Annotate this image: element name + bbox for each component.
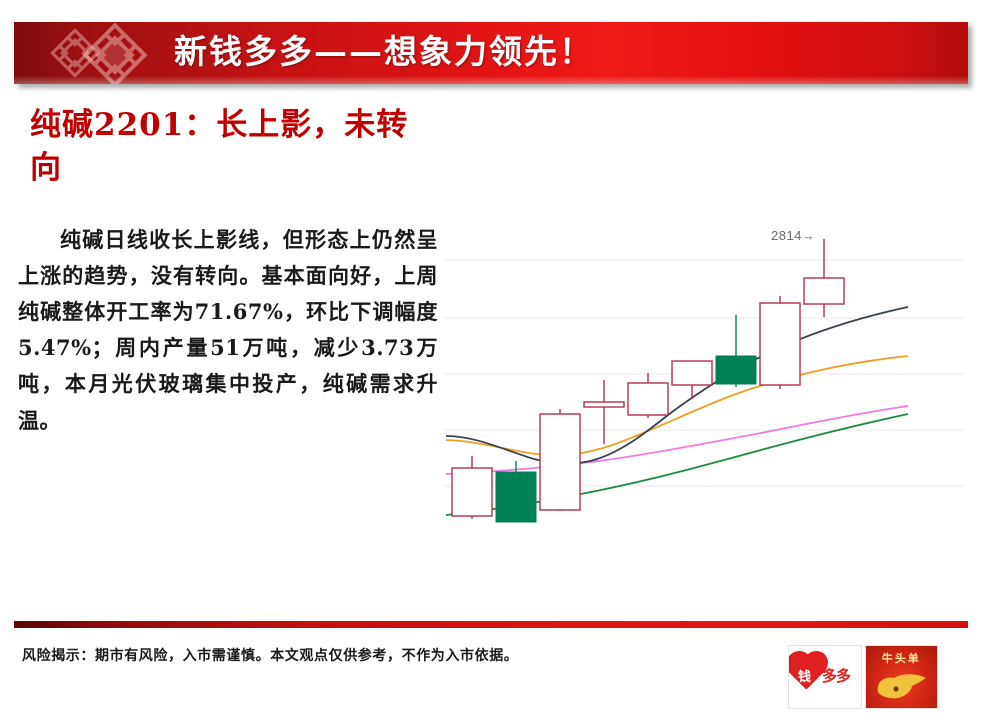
ma-long-line [446, 406, 908, 474]
bull-icon [874, 670, 930, 702]
footer-divider [14, 621, 968, 628]
candle-5 [628, 373, 668, 418]
slide-root: 新钱多多——想象力领先！ 纯碱2201：长上影，未转向 纯碱日线收长上影线，但形… [0, 0, 982, 720]
candle-8 [760, 296, 800, 389]
candle-7 [716, 315, 756, 387]
analysis-paragraph: 纯碱日线收长上影线，但形态上仍然呈上涨的趋势，没有转向。基本面向好，上周纯碱整体… [18, 222, 438, 439]
candle-1 [452, 456, 492, 519]
risk-disclaimer: 风险揭示：期市有风险，入市需谨慎。本文观点仅供参考，不作为入市依据。 [22, 645, 742, 665]
candle-6 [672, 361, 712, 399]
candle-9-long-upper-shadow [804, 239, 844, 317]
logo-tail-text: 多多 [822, 665, 850, 686]
chinese-knot-icon-secondary [82, 22, 152, 84]
chart-canvas [436, 222, 966, 542]
price-annotation: 2814→ [771, 228, 815, 243]
header-banner: 新钱多多——想象力领先！ [14, 22, 968, 84]
logo-niutoudan: 牛头单 [865, 645, 939, 709]
candlestick-chart: 2814→ [436, 222, 966, 542]
candle-4-doji [584, 380, 624, 444]
logo-row: 钱 多多 牛头单 [788, 645, 938, 707]
logo-qianduoduo: 钱 多多 [788, 645, 862, 709]
logo-heart-char: 钱 [798, 666, 811, 685]
page-title: 纯碱2201：长上影，未转向 [30, 104, 430, 191]
header-title: 新钱多多——想象力领先！ [174, 22, 594, 84]
logo-top-text: 牛头单 [866, 650, 938, 666]
candle-3 [540, 409, 580, 511]
